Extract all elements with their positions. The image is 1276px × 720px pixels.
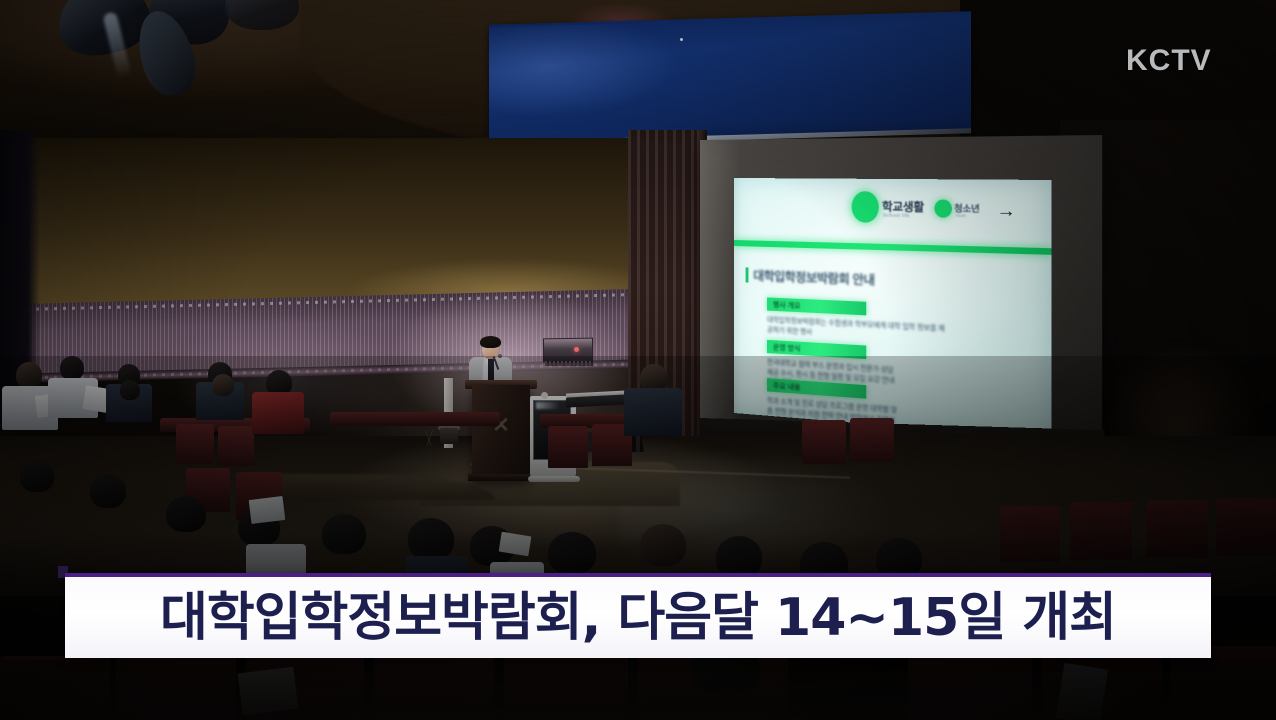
slide-secondary-dot-icon [934, 199, 951, 217]
slide-title: 대학입학정보박람회 안내 [753, 267, 874, 289]
caption-headline: 대학입학정보박람회, 다음달 14~15일 개최 [160, 590, 1116, 646]
speaker-status-led [574, 347, 579, 352]
lower-third-caption-bar: 대학입학정보박람회, 다음달 14~15일 개최 [65, 573, 1211, 658]
banner-highlight-speck [680, 38, 683, 41]
channel-watermark: KCTV [1126, 44, 1212, 78]
arrow-right-icon: → [996, 201, 1015, 220]
slide-primary-dot-icon [852, 191, 879, 223]
slide-accent-rule [734, 240, 1052, 255]
slide-block-bar-label: 운영 방식 [773, 342, 801, 354]
presenter-hair [480, 336, 501, 348]
slide-header: 학교생활 School life 청소년 Youth → [734, 178, 1052, 242]
slide-primary-sublabel: School life [883, 212, 910, 218]
audience-foreground-shadow [0, 660, 1276, 720]
slide-block: 행사 개요 대학입학정보박람회는 수험생과 학부모에게 대학 입학 정보를 제공… [767, 297, 866, 340]
slide-block-bar: 행사 개요 [767, 297, 866, 315]
slide-block-bar-label: 행사 개요 [773, 300, 801, 311]
slide-title-tick-icon [746, 267, 749, 282]
slide-secondary-sublabel: Youth [955, 214, 966, 218]
ceiling-light-fixture [225, 0, 299, 30]
blue-hanging-banner [489, 11, 971, 142]
slide-block-body: 대학입학정보박람회는 수험생과 학부모에게 대학 입학 정보를 제공하기 위한 … [767, 316, 945, 345]
broadcast-frame: 학교생활 School life 청소년 Youth → 대학입학정보박람회 안… [0, 0, 1276, 720]
